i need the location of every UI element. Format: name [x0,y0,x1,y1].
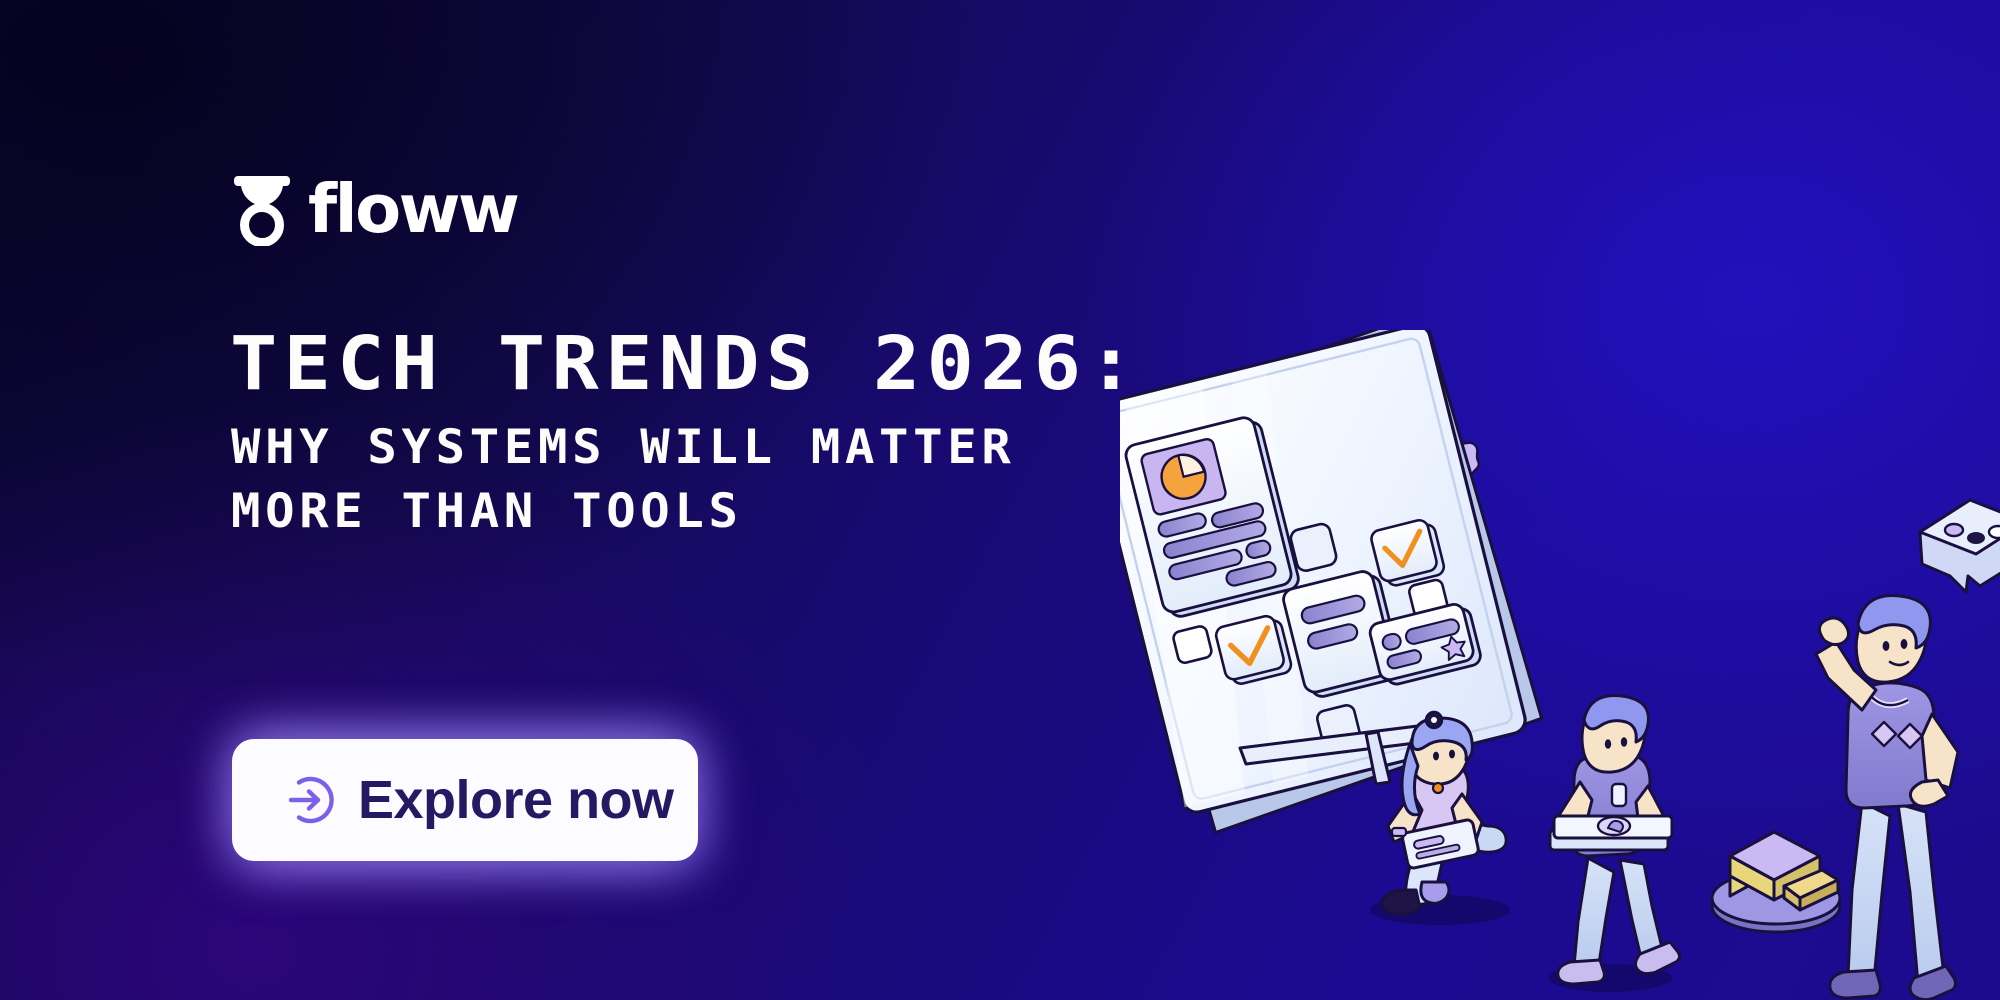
brand-logo[interactable]: floww [232,172,517,246]
isometric-team-dashboard-illustration [1120,330,2000,1000]
headline-line-2: WHY SYSTEMS WILL MATTER [231,424,1016,471]
cta-label: Explore now [358,769,674,831]
person-on-phone [1816,596,1958,1000]
headline-line-1: TECH TRENDS 2026: [230,327,1141,401]
promo-banner: floww TECH TRENDS 2026: WHY SYSTEMS WILL… [0,0,2000,1000]
pie-chart-3d [1712,832,1840,932]
speech-bubble [1920,500,2000,592]
person-carrying-boxes [1548,696,1680,993]
task-tile [1172,625,1213,664]
explore-now-button[interactable]: Explore now [232,739,698,861]
headline-line-3: MORE THAN TOOLS [231,488,743,535]
floww-hourglass-mark-icon [232,172,292,246]
arrow-right-into-circle-icon [284,775,334,825]
content-column: floww TECH TRENDS 2026: WHY SYSTEMS WILL… [232,0,1232,1000]
brand-wordmark: floww [308,176,517,243]
cta-container: Explore now [208,717,728,885]
tilted-kanban-board [1120,330,1549,838]
